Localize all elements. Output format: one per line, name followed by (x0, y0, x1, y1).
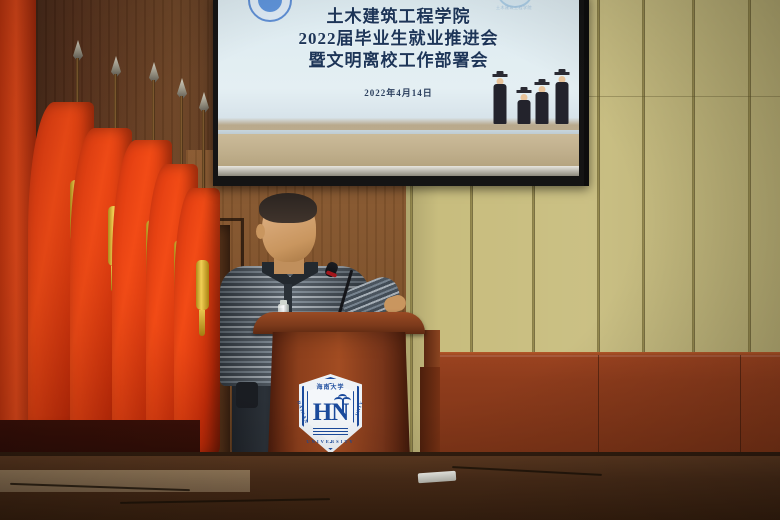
hainan-university-emblem: 海南大学 HN HAINAN UNIV UNIVERSITY (299, 374, 362, 454)
slide-title: 土木建筑工程学院 2022届毕业生就业推进会 暨文明离校工作部署会 (218, 6, 579, 71)
emblem-waves (313, 428, 348, 435)
water-bottle-cap (280, 300, 287, 305)
speaker-bag (236, 382, 258, 408)
slide-sand-background (218, 134, 579, 166)
emblem-chinese-name: 海南大学 (299, 382, 362, 391)
graduate-3 (533, 82, 551, 124)
chair-back (424, 330, 440, 370)
graduates-illustration (489, 66, 571, 124)
podium-top (253, 312, 425, 334)
speaker-hair (259, 193, 317, 223)
slide-title-line-2: 2022届毕业生就业推进会 (218, 28, 579, 50)
slide-title-line-1: 土木建筑工程学院 (218, 6, 579, 28)
projection-screen-frame: 土木建筑工程学院 土木建筑工程学院 2022届毕业生就业推进会 暨文明离校工作部… (213, 0, 589, 186)
graduate-4 (553, 72, 571, 124)
speaker-ear (256, 224, 265, 239)
graduate-1 (491, 74, 509, 124)
emblem-english-bottom: UNIVERSITY (299, 439, 362, 444)
screen-bottom-bar (218, 166, 579, 176)
auditorium-photo: 土木建筑工程学院 土木建筑工程学院 2022届毕业生就业推进会 暨文明离校工作部… (0, 0, 780, 520)
projection-screen: 土木建筑工程学院 土木建筑工程学院 2022届毕业生就业推进会 暨文明离校工作部… (218, 0, 579, 176)
stage-edge (0, 452, 780, 456)
graduate-2 (515, 90, 533, 124)
